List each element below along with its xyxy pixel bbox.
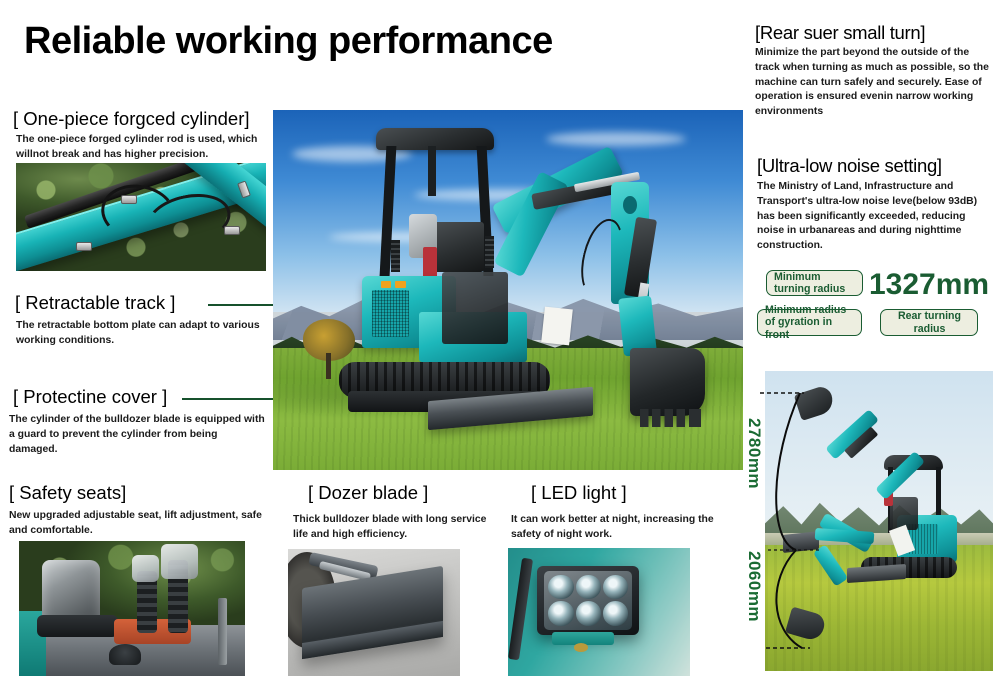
section-heading-retractable-track: [ Retractable track ]: [15, 293, 175, 312]
section-heading-rear-small-turn: [Rear suer small turn]: [755, 23, 925, 42]
led-bulb: [548, 575, 573, 599]
led-bulb: [603, 575, 628, 599]
section-heading-dozer-blade: [ Dozer blade ]: [308, 483, 428, 502]
section-body-led-light: It can work better at night, increasing …: [511, 513, 716, 543]
section-heading-safety-seats: [ Safety seats]: [9, 483, 126, 502]
photo-led-light: [508, 548, 690, 676]
badge-rear-turning-radius[interactable]: Rear turning radius: [880, 309, 978, 336]
led-bulb: [576, 575, 601, 599]
section-heading-cylinder: [ One-piece forgced cylinder]: [13, 109, 250, 128]
page-title: Reliable working performance: [24, 22, 553, 60]
section-body-dozer-blade: Thick bulldozer blade with long service …: [293, 513, 493, 543]
led-bulb: [548, 601, 573, 625]
photo-one-piece-forged-cylinder: [16, 163, 266, 271]
badge-label: Minimum turning radius: [774, 271, 856, 296]
photo-safety-seat: [19, 541, 245, 676]
section-heading-ultra-low-noise: [Ultra-low noise setting]: [757, 156, 942, 175]
dimension-label-2060mm: 2060mm: [744, 551, 764, 622]
poster-page: Reliable working performance [ One-piece…: [0, 0, 1000, 690]
led-bulb: [576, 601, 601, 625]
section-body-retractable-track: The retractable bottom plate can adapt t…: [16, 319, 264, 349]
photo-mini-excavator-main: [273, 110, 743, 470]
dimension-label-2780mm: 2780mm: [744, 418, 764, 489]
section-body-cylinder: The one-piece forged cylinder rod is use…: [16, 133, 268, 163]
section-heading-led-light: [ LED light ]: [531, 483, 627, 502]
turning-radius-value: 1327mm: [869, 270, 989, 300]
photo-mini-excavator-reach-diagram: [765, 371, 993, 671]
section-body-rear-small-turn: Minimize the part beyond the outside of …: [755, 46, 993, 120]
section-heading-protective-cover: [ Protectine cover ]: [13, 387, 167, 406]
section-body-ultra-low-noise: The Ministry of Land, Infrastructure and…: [757, 180, 995, 254]
badge-label: Minimum radius of gyration in front: [765, 304, 855, 342]
led-bulb: [603, 601, 628, 625]
section-body-protective-cover: The cylinder of the bulldozer blade is e…: [9, 413, 267, 457]
badge-minimum-radius-of-gyration-in-front[interactable]: Minimum radius of gyration in front: [757, 309, 862, 336]
badge-minimum-turning-radius[interactable]: Minimum turning radius: [766, 270, 863, 296]
section-body-safety-seats: New upgraded adjustable seat, lift adjus…: [9, 509, 271, 539]
badge-label: Rear turning radius: [888, 310, 971, 335]
photo-dozer-blade: [288, 549, 460, 676]
